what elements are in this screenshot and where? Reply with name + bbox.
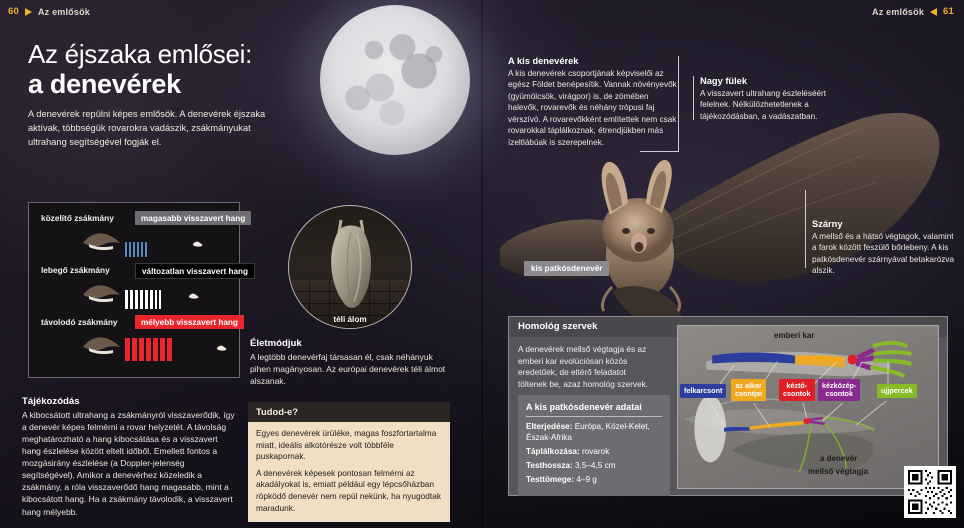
species-data-key: Testtömege: bbox=[526, 475, 574, 484]
species-pill-label: kis patkósdenevér bbox=[524, 261, 609, 276]
header-right: Az emlősök 61 bbox=[872, 6, 954, 17]
echo-bars bbox=[125, 285, 161, 309]
homologous-organs-panel: Homológ szervek A denevérek mellső végta… bbox=[508, 316, 948, 496]
echo-bar bbox=[132, 338, 137, 361]
echo-row-label: közelítő zsákmány bbox=[41, 213, 114, 223]
species-data-value: 3,5–4,5 cm bbox=[575, 461, 616, 470]
echo-bars bbox=[125, 233, 147, 257]
species-data-title: A kis patkósdenevér adatai bbox=[526, 402, 662, 417]
lifestyle-title: Életmódjuk bbox=[250, 338, 446, 349]
echo-bar bbox=[139, 338, 144, 361]
section-label-left: Az emlősök bbox=[38, 7, 90, 17]
species-data-key: Táplálkozása: bbox=[526, 447, 580, 456]
triangle-right-icon bbox=[25, 8, 32, 16]
echo-row-tag: változatlan visszavert hang bbox=[135, 263, 255, 279]
echo-bar bbox=[137, 242, 139, 257]
echo-row-label: távolodó zsákmány bbox=[41, 317, 118, 327]
lede-paragraph: A denevérek repülni képes emlősök. A den… bbox=[28, 108, 266, 150]
leader-line-vertical bbox=[805, 190, 806, 268]
callout-body: A kis denevérek csoportjának képviselői … bbox=[508, 68, 678, 148]
header-left: 60 Az emlősök bbox=[8, 6, 90, 17]
did-you-know-paragraph: A denevérek képesek pontosan felmérni az… bbox=[256, 468, 442, 514]
echo-bar bbox=[140, 290, 143, 309]
page-gutter bbox=[481, 0, 483, 528]
bat-silhouette-icon bbox=[79, 279, 123, 307]
echo-row-tag: mélyebb visszavert hang bbox=[135, 315, 244, 329]
bone-label-carpals: kéztő-csontok bbox=[779, 379, 815, 401]
callout-title: Nagy fülek bbox=[700, 76, 852, 86]
echo-bar bbox=[160, 338, 165, 361]
did-you-know-title: Tudod-e? bbox=[248, 402, 450, 422]
echo-bar bbox=[125, 290, 128, 309]
bone-label-forearm: az alkarcsontjai bbox=[731, 379, 766, 401]
orientation-section: Tájékozódás A kibocsátott ultrahang a zs… bbox=[22, 396, 238, 518]
diagram-caption-bat-line1: a denevér bbox=[820, 454, 857, 463]
echo-bar bbox=[159, 290, 161, 309]
homolog-intro: A denevérek mellső végtagja és az emberi… bbox=[509, 337, 665, 390]
species-data-value: 4–9 g bbox=[576, 475, 597, 484]
echo-bar bbox=[130, 290, 133, 309]
title-line-1: Az éjszaka emlősei: bbox=[28, 40, 328, 69]
bone-label-humerus: felkarcsont bbox=[680, 384, 726, 398]
page-title: Az éjszaka emlősei: a denevérek bbox=[28, 40, 328, 99]
leader-line-horizontal bbox=[640, 151, 679, 152]
diagram-caption-bat-line2: mellső végtagja bbox=[808, 467, 868, 476]
species-data-key: Testhossza: bbox=[526, 461, 573, 470]
echo-row-tag: magasabb visszavert hang bbox=[135, 211, 251, 225]
bone-label-phalanges: ujjpercek bbox=[877, 384, 917, 398]
echo-bar bbox=[135, 290, 138, 309]
leader-line-vertical bbox=[678, 56, 679, 152]
echo-bar bbox=[141, 242, 143, 257]
echo-bar bbox=[145, 290, 148, 309]
bone-label-metacarpals: kézközép-csontok bbox=[818, 379, 860, 401]
echo-bar bbox=[133, 242, 135, 257]
callout-body: A mellső és a hátsó végtagok, valamint a… bbox=[812, 231, 960, 277]
species-data-value: rovarok bbox=[582, 447, 609, 456]
echo-bars bbox=[125, 337, 172, 361]
echo-row-label: lebegő zsákmány bbox=[41, 265, 110, 275]
qr-code[interactable] bbox=[904, 466, 956, 518]
echo-bar bbox=[129, 242, 131, 257]
echolocation-diagram-panel: közelítő zsákmány magasabb visszavert ha… bbox=[28, 202, 240, 378]
echo-bar bbox=[146, 338, 151, 361]
section-label-right: Az emlősök bbox=[872, 7, 924, 17]
callout-body: A visszavert ultrahang észleléséért fele… bbox=[700, 88, 852, 122]
echo-bar bbox=[155, 290, 157, 309]
triangle-left-icon bbox=[930, 8, 937, 16]
bat-silhouette-icon bbox=[79, 331, 123, 359]
did-you-know-box: Tudod-e? Egyes denevérek ürüléke, magas … bbox=[248, 402, 450, 522]
limb-comparison-diagram: emberi kar bbox=[677, 325, 939, 489]
echo-row: közelítő zsákmány magasabb visszavert ha… bbox=[39, 211, 229, 263]
title-line-2: a denevérek bbox=[28, 69, 328, 99]
lifestyle-section: Életmódjuk A legtöbb denevérfaj társasan… bbox=[250, 338, 446, 387]
echo-bar bbox=[150, 290, 153, 309]
did-you-know-paragraph: Egyes denevérek ürüléke, magas foszforta… bbox=[256, 428, 442, 463]
limb-bones-svg bbox=[678, 326, 938, 488]
orientation-body: A kibocsátott ultrahang a zsákmányról vi… bbox=[22, 409, 238, 518]
did-you-know-body: Egyes denevérek ürüléke, magas foszforta… bbox=[248, 422, 450, 522]
echo-bar bbox=[145, 242, 147, 257]
bat-silhouette-icon bbox=[79, 227, 123, 255]
species-data-key: Elterjedése: bbox=[526, 422, 572, 431]
callout-big-ears: Nagy fülek A visszavert ultrahang észlel… bbox=[700, 76, 852, 122]
moon-image bbox=[320, 5, 470, 155]
page-number-right: 61 bbox=[943, 6, 954, 17]
species-data-row: Testtömege: 4–9 g bbox=[526, 474, 662, 485]
echo-bar bbox=[153, 338, 158, 361]
moth-icon bbox=[191, 239, 204, 249]
echo-bar bbox=[125, 338, 130, 361]
hanging-bat-illustration bbox=[323, 216, 379, 312]
species-data-row: Testhossza: 3,5–4,5 cm bbox=[526, 460, 662, 471]
moth-icon bbox=[215, 343, 228, 353]
species-data-row: Elterjedése: Európa, Közel-Kelet, Észak-… bbox=[526, 421, 662, 443]
species-data-box: A kis patkósdenevér adatai Elterjedése: … bbox=[518, 395, 670, 496]
moth-icon bbox=[187, 291, 200, 301]
species-data-row: Táplálkozása: rovarok bbox=[526, 446, 662, 457]
magazine-spread: 60 Az emlősök Az emlősök 61 bbox=[0, 0, 964, 528]
callout-wing: Szárny A mellső és a hátsó végtagok, val… bbox=[812, 219, 960, 277]
echo-bar bbox=[125, 242, 127, 257]
callout-small-bats: A kis denevérek A kis denevérek csoportj… bbox=[508, 56, 678, 148]
qr-code-glyph bbox=[908, 470, 952, 514]
echo-bar bbox=[167, 338, 172, 361]
leader-line-vertical bbox=[693, 76, 694, 120]
callout-title: A kis denevérek bbox=[508, 56, 678, 66]
callout-title: Szárny bbox=[812, 219, 960, 229]
inset-caption: téli álom bbox=[289, 315, 411, 324]
orientation-title: Tájékozódás bbox=[22, 396, 238, 407]
echo-row: távolodó zsákmány mélyebb visszavert han… bbox=[39, 315, 229, 367]
page-number-left: 60 bbox=[8, 6, 19, 17]
echo-row: lebegő zsákmány változatlan visszavert h… bbox=[39, 263, 229, 315]
lifestyle-body: A legtöbb denevérfaj társasan él, csak n… bbox=[250, 351, 446, 387]
hibernation-inset: téli álom bbox=[288, 205, 412, 329]
